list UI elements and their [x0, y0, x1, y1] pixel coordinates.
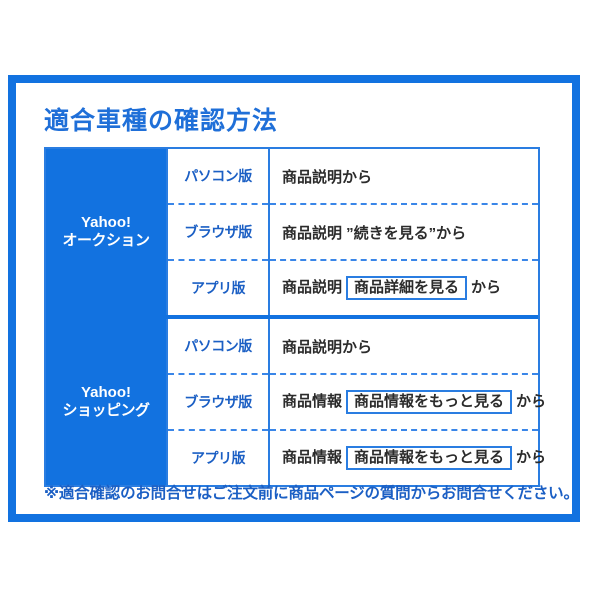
- description-cell: 商品説明商品詳細を見るから: [269, 260, 539, 315]
- description-text: 商品説明から: [282, 339, 372, 356]
- description-text: 商品説明から: [282, 169, 372, 186]
- platform-cell-pc: パソコン版: [167, 319, 269, 374]
- platform-cell-browser: ブラウザ版: [167, 374, 269, 430]
- boxed-button-label[interactable]: 商品詳細を見る: [346, 276, 467, 300]
- boxed-button-label[interactable]: 商品情報をもっと見る: [346, 390, 512, 414]
- description-text-suffix: から: [516, 449, 546, 466]
- description-text-prefix: 商品情報: [282, 393, 342, 410]
- description-text-suffix: から: [471, 279, 501, 296]
- description-cell: 商品説明から: [269, 319, 539, 374]
- description-cell: 商品説明から: [269, 148, 539, 204]
- page-title: 適合車種の確認方法: [44, 101, 278, 137]
- table-row: Yahoo! ショッピング パソコン版 商品説明から: [45, 319, 539, 374]
- description-text-suffix: から: [516, 393, 546, 410]
- brand-label-line1: Yahoo!: [46, 384, 166, 402]
- description-text-prefix: 商品情報: [282, 449, 342, 466]
- blue-outer-frame: 適合車種の確認方法 Yahoo! オークション パソコン版 商品説明から ブラウ…: [8, 75, 580, 522]
- platform-cell-app: アプリ版: [167, 260, 269, 315]
- description-cell: 商品説明 ”続きを見る”から: [269, 204, 539, 260]
- platform-cell-app: アプリ版: [167, 430, 269, 486]
- description-text: 商品説明 ”続きを見る”から: [282, 225, 466, 242]
- brand-label-line2: ショッピング: [46, 402, 166, 420]
- description-cell: 商品情報商品情報をもっと見るから: [269, 430, 539, 486]
- brand-label-line2: オークション: [46, 232, 166, 250]
- compatibility-table: Yahoo! オークション パソコン版 商品説明から ブラウザ版 商品説明 ”続…: [44, 147, 540, 487]
- content-panel: 適合車種の確認方法 Yahoo! オークション パソコン版 商品説明から ブラウ…: [16, 83, 572, 514]
- table-body: Yahoo! オークション パソコン版 商品説明から ブラウザ版 商品説明 ”続…: [45, 148, 539, 486]
- platform-cell-pc: パソコン版: [167, 148, 269, 204]
- footer-note: ※適合確認のお問合せはご注文前に商品ページの質問からお問合せください。: [44, 481, 544, 503]
- brand-cell-shopping: Yahoo! ショッピング: [45, 319, 167, 486]
- brand-label-line1: Yahoo!: [46, 214, 166, 232]
- description-cell: 商品情報商品情報をもっと見るから: [269, 374, 539, 430]
- brand-cell-auction: Yahoo! オークション: [45, 148, 167, 315]
- platform-cell-browser: ブラウザ版: [167, 204, 269, 260]
- description-text-prefix: 商品説明: [282, 279, 342, 296]
- table-row: Yahoo! オークション パソコン版 商品説明から: [45, 148, 539, 204]
- boxed-button-label[interactable]: 商品情報をもっと見る: [346, 446, 512, 470]
